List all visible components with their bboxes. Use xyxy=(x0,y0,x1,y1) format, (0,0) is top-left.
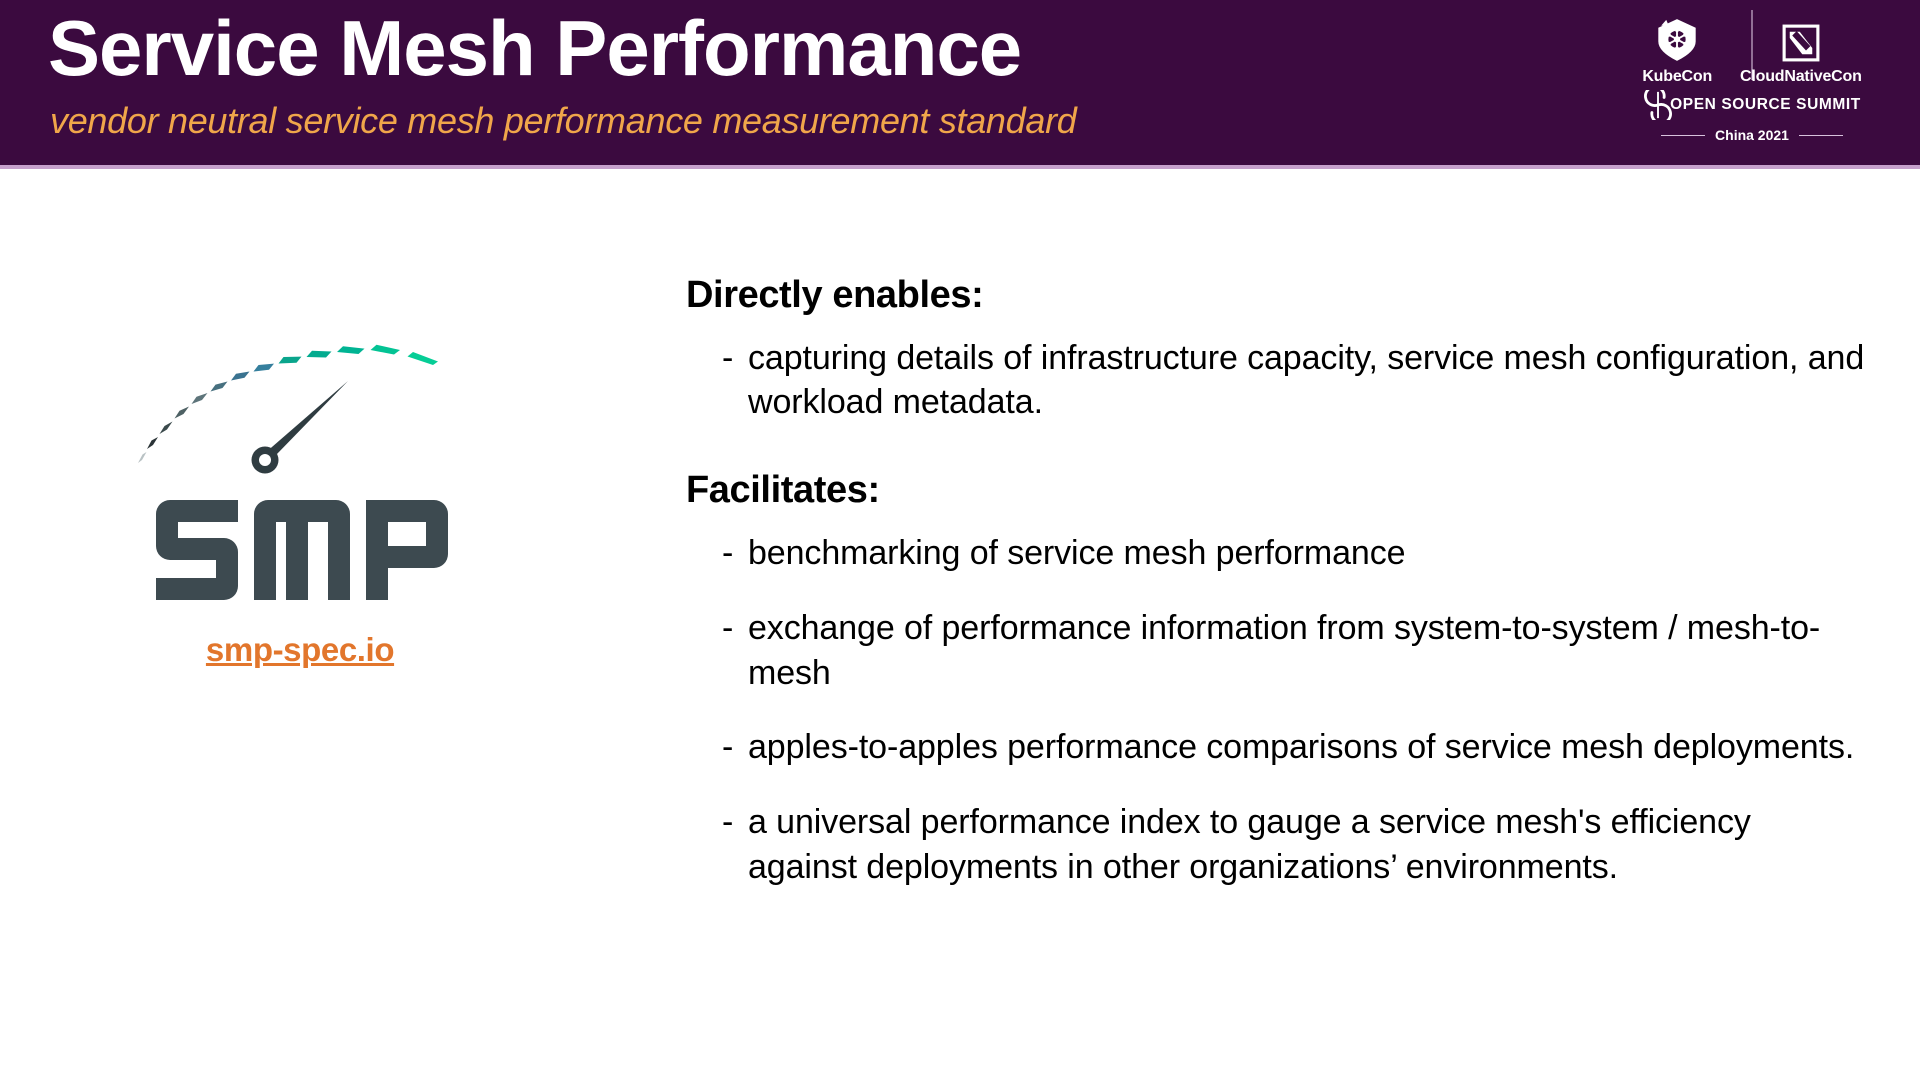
section-heading: Directly enables: xyxy=(686,272,1866,320)
bullet-marker: - xyxy=(686,725,748,770)
slide-root: Service Mesh Performance vendor neutral … xyxy=(0,0,1920,1080)
open-source-summit-s-icon xyxy=(1643,90,1673,120)
bullet-text: exchange of performance information from… xyxy=(748,606,1866,696)
header-underline xyxy=(0,165,1920,169)
bullet-marker: - xyxy=(686,800,748,845)
section-heading: Facilitates: xyxy=(686,467,1866,515)
page-title: Service Mesh Performance xyxy=(48,2,1021,94)
rule-right xyxy=(1799,135,1843,136)
location-year-label: China 2021 xyxy=(1705,127,1799,143)
smp-spec-link[interactable]: smp-spec.io xyxy=(90,631,510,669)
smp-brand-column: smp-spec.io xyxy=(90,255,510,775)
kubernetes-helm-icon xyxy=(1654,17,1700,63)
bullet-marker: - xyxy=(686,531,748,576)
section-facilitates: Facilitates: - benchmarking of service m… xyxy=(686,467,1866,890)
list-item: - apples-to-apples performance compariso… xyxy=(686,725,1866,770)
list-item: - a universal performance index to gauge… xyxy=(686,800,1866,890)
location-year-row: China 2021 xyxy=(1632,127,1872,143)
conference-logos-row: KubeCon CloudNativeCon xyxy=(1632,8,1872,86)
bullet-marker: - xyxy=(686,606,748,651)
kubecon-wordmark: KubeCon xyxy=(1642,68,1712,86)
list-item: - capturing details of infrastructure ca… xyxy=(686,336,1866,426)
page-subtitle: vendor neutral service mesh performance … xyxy=(50,100,1077,142)
content-column: Directly enables: - capturing details of… xyxy=(686,272,1866,920)
list-item: - benchmarking of service mesh performan… xyxy=(686,531,1866,576)
gauge-segments xyxy=(138,345,438,463)
cloudnativecon-logo: CloudNativeCon xyxy=(1726,23,1876,86)
list-item: - exchange of performance information fr… xyxy=(686,606,1866,696)
bullet-list: - benchmarking of service mesh performan… xyxy=(686,531,1866,890)
kubecon-logo: KubeCon xyxy=(1628,17,1726,86)
cloudnativecon-wordmark: CloudNativeCon xyxy=(1740,68,1862,86)
logo-divider xyxy=(1752,10,1753,80)
bullet-text: capturing details of infrastructure capa… xyxy=(748,336,1866,426)
gauge-needle xyxy=(252,381,349,474)
section-directly-enables: Directly enables: - capturing details of… xyxy=(686,272,1866,425)
bullet-list: - capturing details of infrastructure ca… xyxy=(686,336,1866,426)
open-source-summit-label: OPEN SOURCE SUMMIT xyxy=(1670,96,1861,114)
bullet-text: a universal performance index to gauge a… xyxy=(748,800,1866,890)
bullet-marker: - xyxy=(686,336,748,381)
smp-wordmark-logo xyxy=(150,495,450,605)
event-logo-lockup: KubeCon CloudNativeCon OPEN SOURCE SUMMI… xyxy=(1632,8,1872,148)
bullet-text: benchmarking of service mesh performance xyxy=(748,531,1866,576)
smp-gauge-icon xyxy=(120,255,480,485)
bullet-text: apples-to-apples performance comparisons… xyxy=(748,725,1866,770)
rule-left xyxy=(1661,135,1705,136)
cloudnativecon-square-icon xyxy=(1781,23,1821,63)
open-source-summit-row: OPEN SOURCE SUMMIT xyxy=(1632,90,1872,120)
